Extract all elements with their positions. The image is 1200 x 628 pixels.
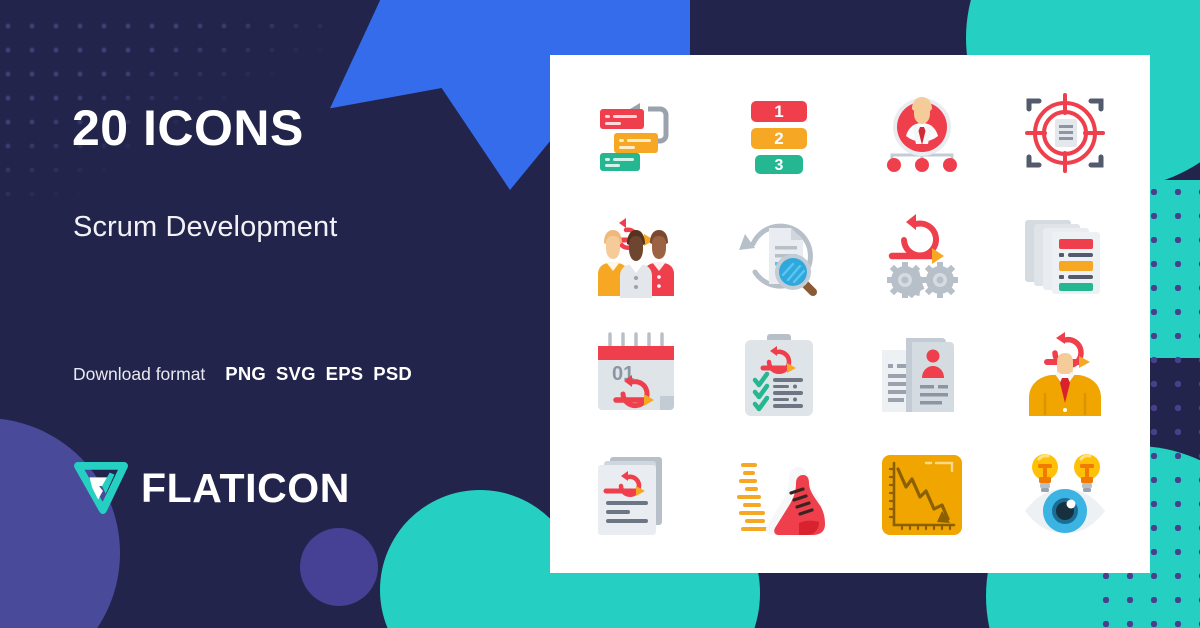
page-title: 20 ICONS [72, 103, 304, 153]
product-backlog-cards-icon [590, 87, 682, 179]
running-shoe-sprint-icon [733, 449, 825, 541]
download-format-label: Download format [73, 364, 205, 385]
download-format-row: Download format PNG SVG EPS PSD [73, 363, 412, 385]
icon-burndown-chart [850, 435, 993, 556]
icon-user-story-document [850, 314, 993, 435]
icon-scrum-master [850, 73, 993, 194]
icon-running-shoe-sprint [707, 435, 850, 556]
icon-priority-list: 1 2 3 [707, 73, 850, 194]
vision-eye-bulbs-icon [1019, 449, 1111, 541]
format-eps: EPS [326, 363, 364, 385]
format-psd: PSD [373, 363, 412, 385]
format-svg: SVG [276, 363, 316, 385]
priority-number-1: 1 [774, 102, 783, 121]
icon-clipboard-checklist [707, 314, 850, 435]
icon-sprint-backlog [564, 435, 707, 556]
burndown-chart-icon [876, 449, 968, 541]
priority-number-3: 3 [774, 157, 783, 174]
scrum-team-icon [590, 208, 682, 300]
icon-document-stack [993, 194, 1136, 315]
sprint-gears-icon [876, 208, 968, 300]
clipboard-checklist-icon [733, 328, 825, 420]
icon-sprint-calendar: 01 [564, 314, 707, 435]
document-stack-icon [1019, 208, 1111, 300]
flaticon-logo-icon [74, 462, 128, 514]
icon-product-backlog-cards [564, 73, 707, 194]
icon-product-owner [993, 314, 1136, 435]
sprint-calendar-icon: 01 [590, 328, 682, 420]
brand-name: FLATICON [141, 468, 350, 509]
brand-lockup: FLATICON [74, 462, 350, 514]
target-document-icon [1019, 87, 1111, 179]
scrum-master-icon [876, 87, 968, 179]
sprint-backlog-icon [590, 449, 682, 541]
icon-preview-card: 1 2 3 [550, 55, 1150, 573]
icon-sprint-gears [850, 194, 993, 315]
icon-sprint-review [707, 194, 850, 315]
icon-vision-eye-bulbs [993, 435, 1136, 556]
left-text-column: 20 ICONS Scrum Development Download form… [72, 0, 542, 628]
priority-list-icon: 1 2 3 [733, 87, 825, 179]
format-png: PNG [225, 363, 266, 385]
product-owner-icon [1019, 328, 1111, 420]
icon-scrum-team [564, 194, 707, 315]
priority-number-2: 2 [774, 129, 783, 148]
icon-target-document [993, 73, 1136, 194]
page-subtitle: Scrum Development [73, 213, 337, 242]
poster-canvas: 20 ICONS Scrum Development Download form… [0, 0, 1200, 628]
user-story-document-icon [876, 328, 968, 420]
sprint-review-icon [733, 208, 825, 300]
